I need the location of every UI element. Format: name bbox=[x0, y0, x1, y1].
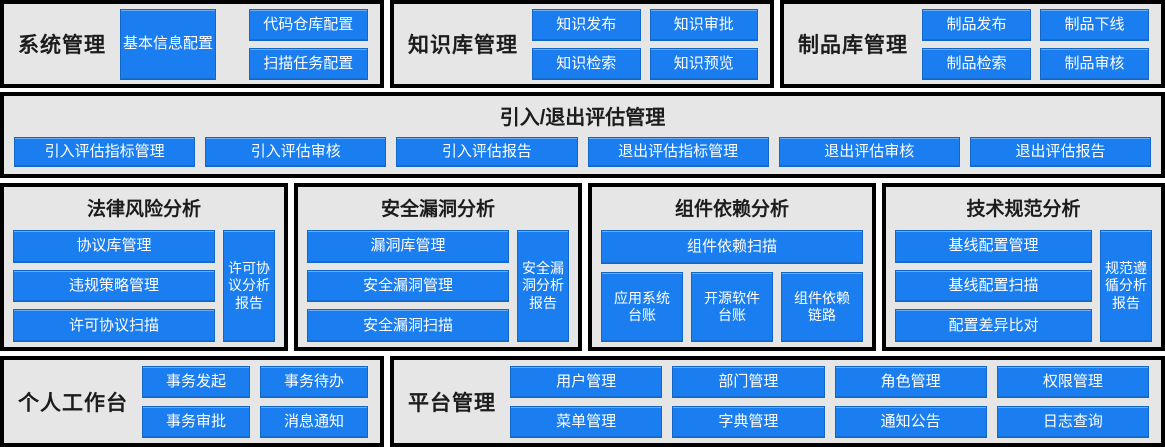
button-baseline-config-management[interactable]: 基线配置管理 bbox=[895, 230, 1092, 263]
product-library-buttons: 制品发布 制品下线 制品检索 制品审核 bbox=[922, 9, 1161, 80]
panel-technical-specification-analysis: 技术规范分析 基线配置管理 基线配置扫描 配置差异比对 规范遵循分析报告 bbox=[882, 183, 1165, 351]
panel-personal-workbench: 个人工作台 事务发起 事务待办 事务审批 消息通知 bbox=[0, 356, 384, 447]
evaluation-management-buttons: 引入评估指标管理 引入评估审核 引入评估报告 退出评估指标管理 退出评估审核 退… bbox=[4, 137, 1161, 167]
legal-risk-buttons: 协议库管理 违规策略管理 许可协议扫描 bbox=[13, 230, 215, 342]
panel-title-component-dependency: 组件依赖分析 bbox=[592, 194, 872, 221]
button-menu-management[interactable]: 菜单管理 bbox=[510, 406, 662, 438]
button-dictionary-management[interactable]: 字典管理 bbox=[672, 406, 824, 438]
panel-evaluation-management: 引入/退出评估管理 引入评估指标管理 引入评估审核 引入评估报告 退出评估指标管… bbox=[0, 92, 1165, 178]
button-task-initiate[interactable]: 事务发起 bbox=[142, 366, 250, 398]
button-entry-eval-report[interactable]: 引入评估报告 bbox=[396, 137, 577, 167]
security-vulnerability-body: 漏洞库管理 安全漏洞管理 安全漏洞扫描 安全漏洞分析报告 bbox=[298, 230, 578, 342]
security-vulnerability-buttons: 漏洞库管理 安全漏洞管理 安全漏洞扫描 bbox=[307, 230, 509, 342]
personal-workbench-buttons: 事务发起 事务待办 事务审批 消息通知 bbox=[142, 366, 380, 438]
button-permission-management[interactable]: 权限管理 bbox=[997, 366, 1149, 398]
button-task-approval[interactable]: 事务审批 bbox=[142, 406, 250, 438]
button-violation-policy-management[interactable]: 违规策略管理 bbox=[13, 270, 215, 303]
platform-management-buttons: 用户管理 部门管理 角色管理 权限管理 菜单管理 字典管理 通知公告 日志查询 bbox=[510, 366, 1161, 438]
button-license-agreement-scan[interactable]: 许可协议扫描 bbox=[13, 309, 215, 342]
button-exit-eval-indicator[interactable]: 退出评估指标管理 bbox=[588, 137, 769, 167]
panel-title-security-vulnerability: 安全漏洞分析 bbox=[298, 194, 578, 221]
button-security-analysis-report[interactable]: 安全漏洞分析报告 bbox=[517, 230, 569, 342]
panel-knowledge-base-management: 知识库管理 知识发布 知识审批 知识检索 知识预览 bbox=[390, 0, 774, 88]
button-product-review[interactable]: 制品审核 bbox=[1040, 48, 1149, 80]
panel-title-knowledge-base: 知识库管理 bbox=[408, 29, 518, 59]
button-knowledge-preview[interactable]: 知识预览 bbox=[650, 48, 759, 80]
technical-specification-buttons: 基线配置管理 基线配置扫描 配置差异比对 bbox=[895, 230, 1092, 342]
button-scan-task-config[interactable]: 扫描任务配置 bbox=[249, 48, 369, 80]
button-knowledge-approval[interactable]: 知识审批 bbox=[650, 9, 759, 41]
button-exit-eval-review[interactable]: 退出评估审核 bbox=[779, 137, 960, 167]
panel-title-system-management: 系统管理 bbox=[18, 29, 106, 59]
button-entry-eval-review[interactable]: 引入评估审核 bbox=[205, 137, 386, 167]
button-product-search[interactable]: 制品检索 bbox=[922, 48, 1031, 80]
button-application-system-ledger[interactable]: 应用系统台账 bbox=[601, 272, 683, 342]
button-exit-eval-report[interactable]: 退出评估报告 bbox=[970, 137, 1151, 167]
button-role-management[interactable]: 角色管理 bbox=[835, 366, 987, 398]
system-management-buttons: 基本信息配置 代码仓库配置 扫描任务配置 bbox=[120, 9, 380, 80]
panel-title-personal-workbench: 个人工作台 bbox=[18, 387, 128, 417]
button-basic-info-config[interactable]: 基本信息配置 bbox=[120, 9, 216, 80]
panel-title-legal-risk: 法律风险分析 bbox=[4, 194, 284, 221]
button-user-management[interactable]: 用户管理 bbox=[510, 366, 662, 398]
button-license-analysis-report[interactable]: 许可协议分析报告 bbox=[223, 230, 275, 342]
panel-title-platform-management: 平台管理 bbox=[408, 387, 496, 417]
panel-legal-risk-analysis: 法律风险分析 协议库管理 违规策略管理 许可协议扫描 许可协议分析报告 bbox=[0, 183, 288, 351]
button-code-repo-config[interactable]: 代码仓库配置 bbox=[249, 9, 369, 41]
panel-system-management: 系统管理 基本信息配置 代码仓库配置 扫描任务配置 bbox=[0, 0, 384, 88]
panel-title-product-library: 制品库管理 bbox=[798, 29, 908, 59]
button-open-source-software-ledger[interactable]: 开源软件台账 bbox=[691, 272, 773, 342]
button-knowledge-publish[interactable]: 知识发布 bbox=[532, 9, 641, 41]
button-task-todo[interactable]: 事务待办 bbox=[260, 366, 368, 398]
button-notification-announcement[interactable]: 通知公告 bbox=[835, 406, 987, 438]
button-component-dependency-scan[interactable]: 组件依赖扫描 bbox=[601, 230, 863, 264]
button-security-vulnerability-scan[interactable]: 安全漏洞扫描 bbox=[307, 309, 509, 342]
button-product-offline[interactable]: 制品下线 bbox=[1040, 9, 1149, 41]
button-message-notification[interactable]: 消息通知 bbox=[260, 406, 368, 438]
button-config-difference-comparison[interactable]: 配置差异比对 bbox=[895, 309, 1092, 342]
panel-title-evaluation-management: 引入/退出评估管理 bbox=[4, 101, 1161, 130]
button-baseline-config-scan[interactable]: 基线配置扫描 bbox=[895, 270, 1092, 303]
panel-security-vulnerability-analysis: 安全漏洞分析 漏洞库管理 安全漏洞管理 安全漏洞扫描 安全漏洞分析报告 bbox=[294, 183, 582, 351]
button-knowledge-search[interactable]: 知识检索 bbox=[532, 48, 641, 80]
panel-platform-management: 平台管理 用户管理 部门管理 角色管理 权限管理 菜单管理 字典管理 通知公告 … bbox=[390, 356, 1165, 447]
button-component-dependency-chain[interactable]: 组件依赖链路 bbox=[781, 272, 863, 342]
panel-product-library-management: 制品库管理 制品发布 制品下线 制品检索 制品审核 bbox=[780, 0, 1165, 88]
button-license-library-management[interactable]: 协议库管理 bbox=[13, 230, 215, 263]
button-specification-compliance-report[interactable]: 规范遵循分析报告 bbox=[1100, 230, 1152, 342]
button-log-query[interactable]: 日志查询 bbox=[997, 406, 1149, 438]
panel-title-technical-specification: 技术规范分析 bbox=[886, 194, 1161, 221]
component-dependency-sub-buttons: 应用系统台账 开源软件台账 组件依赖链路 bbox=[601, 272, 863, 342]
architecture-diagram: 系统管理 基本信息配置 代码仓库配置 扫描任务配置 知识库管理 知识发布 知识审… bbox=[0, 0, 1165, 447]
button-security-vulnerability-management[interactable]: 安全漏洞管理 bbox=[307, 270, 509, 303]
button-product-publish[interactable]: 制品发布 bbox=[922, 9, 1031, 41]
panel-component-dependency-analysis: 组件依赖分析 组件依赖扫描 应用系统台账 开源软件台账 组件依赖链路 bbox=[588, 183, 876, 351]
knowledge-base-buttons: 知识发布 知识审批 知识检索 知识预览 bbox=[532, 9, 770, 80]
button-vulnerability-library-management[interactable]: 漏洞库管理 bbox=[307, 230, 509, 263]
button-department-management[interactable]: 部门管理 bbox=[672, 366, 824, 398]
component-dependency-body: 组件依赖扫描 应用系统台账 开源软件台账 组件依赖链路 bbox=[592, 230, 872, 342]
technical-specification-body: 基线配置管理 基线配置扫描 配置差异比对 规范遵循分析报告 bbox=[886, 230, 1161, 342]
button-entry-eval-indicator[interactable]: 引入评估指标管理 bbox=[14, 137, 195, 167]
legal-risk-body: 协议库管理 违规策略管理 许可协议扫描 许可协议分析报告 bbox=[4, 230, 284, 342]
